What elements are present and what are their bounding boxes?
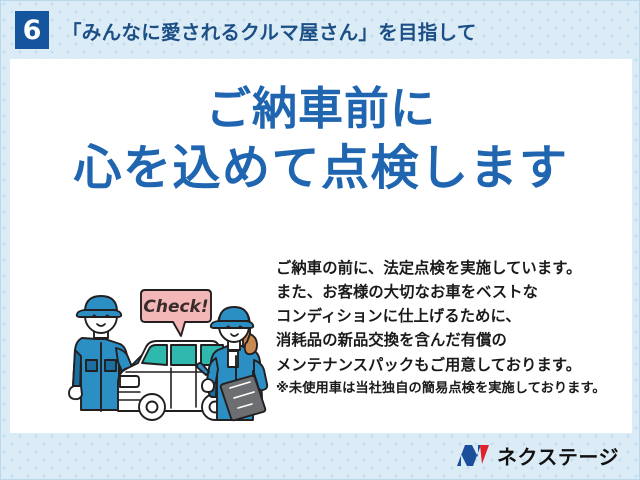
footer-bar: ネクステージ <box>1 431 640 479</box>
body-line-2: また、お客様の大切なお車をベストな <box>276 280 626 304</box>
slide-canvas: 6 「みんなに愛されるクルマ屋さん」を目指して ご納車前に 心を込めて点検します… <box>0 0 640 480</box>
mechanics-illustration: Check! <box>60 264 272 424</box>
body-copy: ご納車の前に、法定点検を実施しています。 また、お客様の大切なお車をベストな コ… <box>276 256 626 400</box>
body-line-5: メンテナンスパックもご用意しております。 <box>276 353 626 377</box>
page-title: ご納車前に 心を込めて点検します <box>10 81 632 198</box>
body-disclaimer-note: ※未使用車は当社独自の簡易点検を実施しております。 <box>276 379 626 400</box>
nextage-n-mark-icon <box>456 444 490 467</box>
body-line-1: ご納車の前に、法定点検を実施しています。 <box>276 256 626 280</box>
body-line-3: コンディションに仕上げるために、 <box>276 304 626 328</box>
brand-logo: ネクステージ <box>456 441 619 470</box>
headline-line-2: 心を込めて点検します <box>10 138 632 198</box>
headline-line-1: ご納車前に <box>10 81 632 138</box>
content-panel: ご納車前に 心を込めて点検します ご納車の前に、法定点検を実施しています。 また… <box>10 59 632 433</box>
brand-logo-text: ネクステージ <box>497 441 619 470</box>
body-line-4: 消耗品の新品交換を含んだ有償の <box>276 328 626 352</box>
mechanics-illustration-svg: Check! <box>60 264 272 424</box>
section-number-badge: 6 <box>15 11 49 49</box>
check-bubble-label: Check! <box>143 297 208 317</box>
header-title: 「みんなに愛されるクルマ屋さん」を目指して <box>62 16 477 45</box>
header-bar: 6 「みんなに愛されるクルマ屋さん」を目指して <box>1 1 640 59</box>
